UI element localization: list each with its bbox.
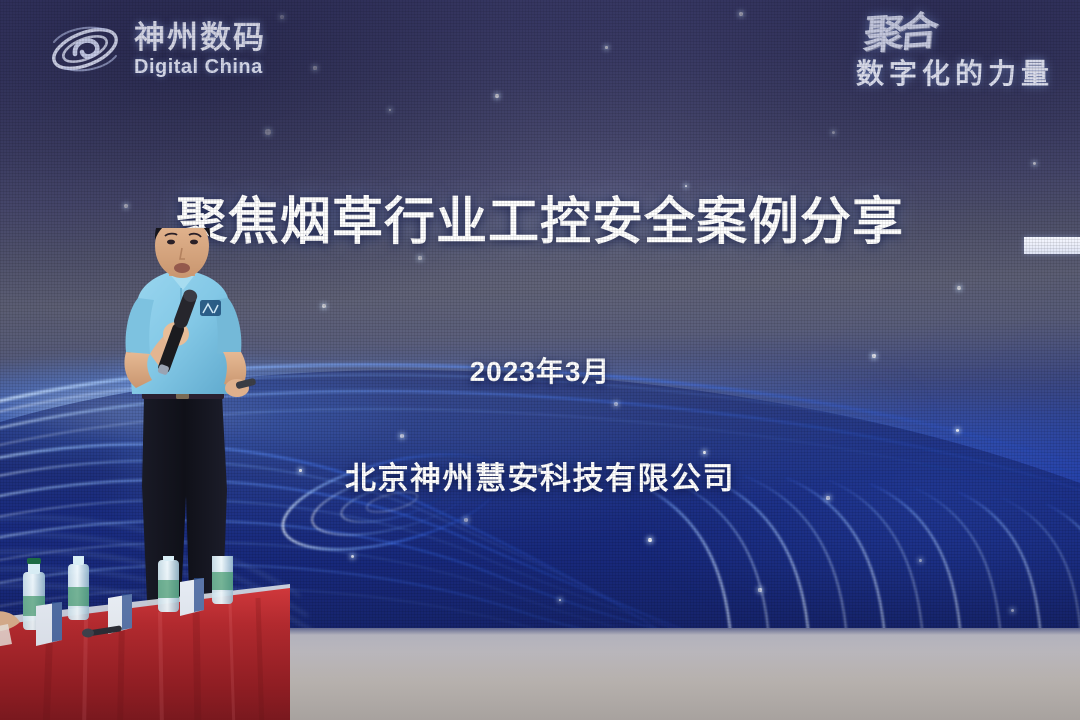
sparkle-particle [957,286,961,290]
event-logo: 聚合 数字化的力量 [856,18,1054,92]
digital-china-wordmark: 神州数码 Digital China [134,22,266,77]
shirt-chest-logo [200,300,221,316]
event-tagline: 数字化的力量 [856,52,1054,92]
sparkle-particle [313,66,316,69]
water-bottle [212,556,233,604]
screen-edge-graphic [1024,237,1080,254]
digital-china-logo: 神州数码 Digital China [48,18,266,80]
sparkle-particle [605,46,608,49]
name-card [180,578,204,616]
brand-name-en: Digital China [134,57,266,77]
brand-name-cn: 神州数码 [134,22,266,53]
sparkle-particle [265,129,270,134]
sparkle-particle [280,15,285,20]
foreground-head-table [0,556,280,720]
sparkle-particle [495,94,498,97]
sparkle-particle [739,12,743,16]
sparkle-particle [418,256,421,259]
sparkle-particle [322,304,326,308]
sparkle-particle [389,109,392,112]
sparkle-particle [832,131,835,134]
water-bottle [68,556,89,620]
water-bottle [158,556,179,612]
sparkle-particle [1033,162,1036,165]
digital-china-swirl-icon [48,18,122,80]
head-table-svg [0,556,290,720]
presentation-photo-scene: 神州数码 Digital China 聚合 数字化的力量 聚焦烟草行业工控安全案… [0,0,1080,720]
name-card [36,602,62,646]
event-calligraphy: 聚合 [854,15,933,52]
